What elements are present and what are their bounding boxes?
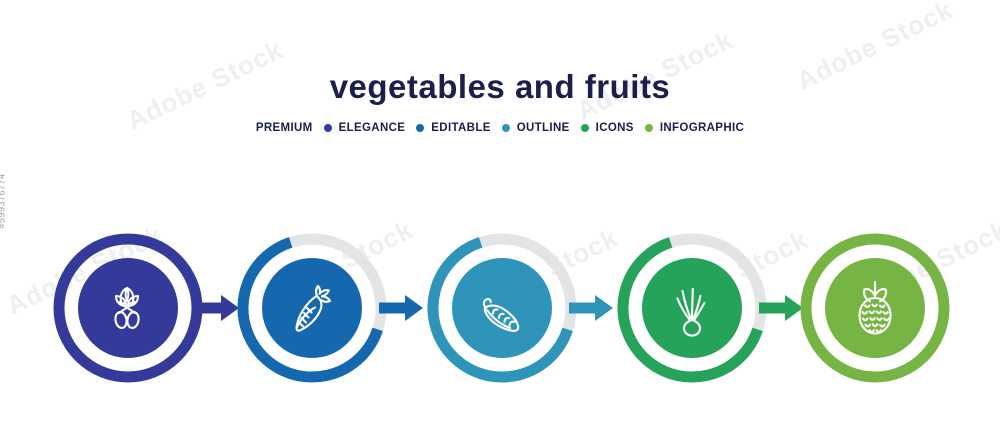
legend-item-elegance: ELEGANCE (313, 122, 406, 134)
legend-item-editable: EDITABLE (405, 122, 490, 134)
legend-dot-icon (324, 124, 332, 132)
legend-item-premium: PREMIUM (256, 122, 313, 134)
legend-item-icons: ICONS (570, 122, 634, 134)
flow-node-2[interactable] (232, 228, 392, 388)
legend-dot-icon (581, 124, 589, 132)
header: vegetables and fruits PREMIUMELEGANCEEDI… (0, 0, 1000, 134)
legend: PREMIUMELEGANCEEDITABLEOUTLINEICONSINFOG… (0, 103, 1000, 134)
flow-node-3[interactable] (422, 228, 582, 388)
page-title: vegetables and fruits (0, 0, 1000, 103)
node-disc (262, 258, 362, 358)
node-disc (825, 258, 925, 358)
legend-item-outline: OUTLINE (491, 122, 570, 134)
process-flow (0, 228, 1000, 393)
legend-label: ICONS (596, 122, 634, 134)
legend-dot-icon (502, 124, 510, 132)
infographic-page: Adobe StockAdobe StockAdobe StockAdobe S… (0, 0, 1000, 428)
legend-label: EDITABLE (431, 122, 490, 134)
legend-dot-icon (645, 124, 653, 132)
legend-label: ELEGANCE (339, 122, 406, 134)
legend-label: PREMIUM (256, 122, 313, 134)
flow-node-1[interactable] (48, 228, 208, 388)
legend-label: INFOGRAPHIC (660, 122, 744, 134)
flow-node-4[interactable] (612, 228, 772, 388)
legend-label: OUTLINE (517, 122, 570, 134)
legend-item-infographic: INFOGRAPHIC (634, 122, 744, 134)
flow-node-5[interactable] (795, 228, 955, 388)
stock-id-label: #599376774 (0, 173, 7, 228)
legend-dot-icon (416, 124, 424, 132)
